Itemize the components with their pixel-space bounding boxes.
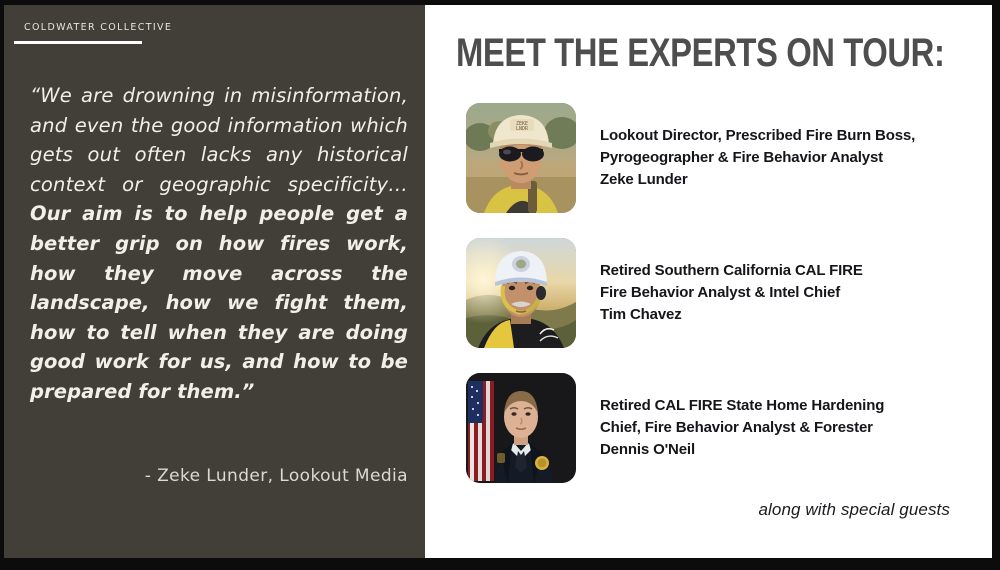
- quote-text: “We are drowning in misinformation, and …: [30, 81, 408, 407]
- page-title: MEET THE EXPERTS ON TOUR:: [456, 32, 944, 74]
- expert-name: Zeke Lunder: [600, 169, 915, 191]
- expert-name: Dennis O'Neil: [600, 439, 884, 461]
- quote-attribution: - Zeke Lunder, Lookout Media: [30, 466, 408, 486]
- svg-text:LNDR: LNDR: [516, 126, 529, 132]
- expert-role-line: Chief, Fire Behavior Analyst & Forester: [600, 417, 884, 439]
- experts-list: ZEKE LNDR Lookout Director, Prescribed F…: [466, 103, 986, 483]
- expert-info: Retired Southern California CAL FIRE Fir…: [600, 260, 863, 326]
- brand-block: COLDWATER COLLECTIVE: [14, 22, 314, 44]
- expert-role-line: Lookout Director, Prescribed Fire Burn B…: [600, 125, 915, 147]
- portrait-dennis-oneil: [466, 373, 576, 483]
- expert-role-line: Retired CAL FIRE State Home Hardening: [600, 395, 884, 417]
- quote-block: “We are drowning in misinformation, and …: [30, 81, 408, 407]
- portrait-tim-chavez: [466, 238, 576, 348]
- expert-role-line: Fire Behavior Analyst & Intel Chief: [600, 282, 863, 304]
- experts-panel: MEET THE EXPERTS ON TOUR:: [425, 5, 992, 558]
- expert-role-line: Retired Southern California CAL FIRE: [600, 260, 863, 282]
- slide-canvas: COLDWATER COLLECTIVE “We are drowning in…: [4, 5, 992, 558]
- list-item: Retired Southern California CAL FIRE Fir…: [466, 238, 986, 348]
- expert-name: Tim Chavez: [600, 304, 863, 326]
- brand-label: COLDWATER COLLECTIVE: [14, 22, 314, 33]
- quote-emphasis-text: Our aim is to help people get a better g…: [30, 202, 408, 403]
- expert-role-line: Pyrogeographer & Fire Behavior Analyst: [600, 147, 915, 169]
- quote-lead-text: “We are drowning in misinformation, and …: [30, 84, 408, 196]
- expert-info: Retired CAL FIRE State Home Hardening Ch…: [600, 395, 884, 461]
- portrait-zeke-lunder: ZEKE LNDR: [466, 103, 576, 213]
- list-item: ZEKE LNDR Lookout Director, Prescribed F…: [466, 103, 986, 213]
- special-guests-note: along with special guests: [758, 500, 950, 520]
- slide-frame: COLDWATER COLLECTIVE “We are drowning in…: [0, 0, 1000, 570]
- brand-underline-rule: [14, 41, 142, 44]
- expert-info: Lookout Director, Prescribed Fire Burn B…: [600, 125, 915, 191]
- quote-panel: COLDWATER COLLECTIVE “We are drowning in…: [4, 5, 425, 558]
- list-item: Retired CAL FIRE State Home Hardening Ch…: [466, 373, 986, 483]
